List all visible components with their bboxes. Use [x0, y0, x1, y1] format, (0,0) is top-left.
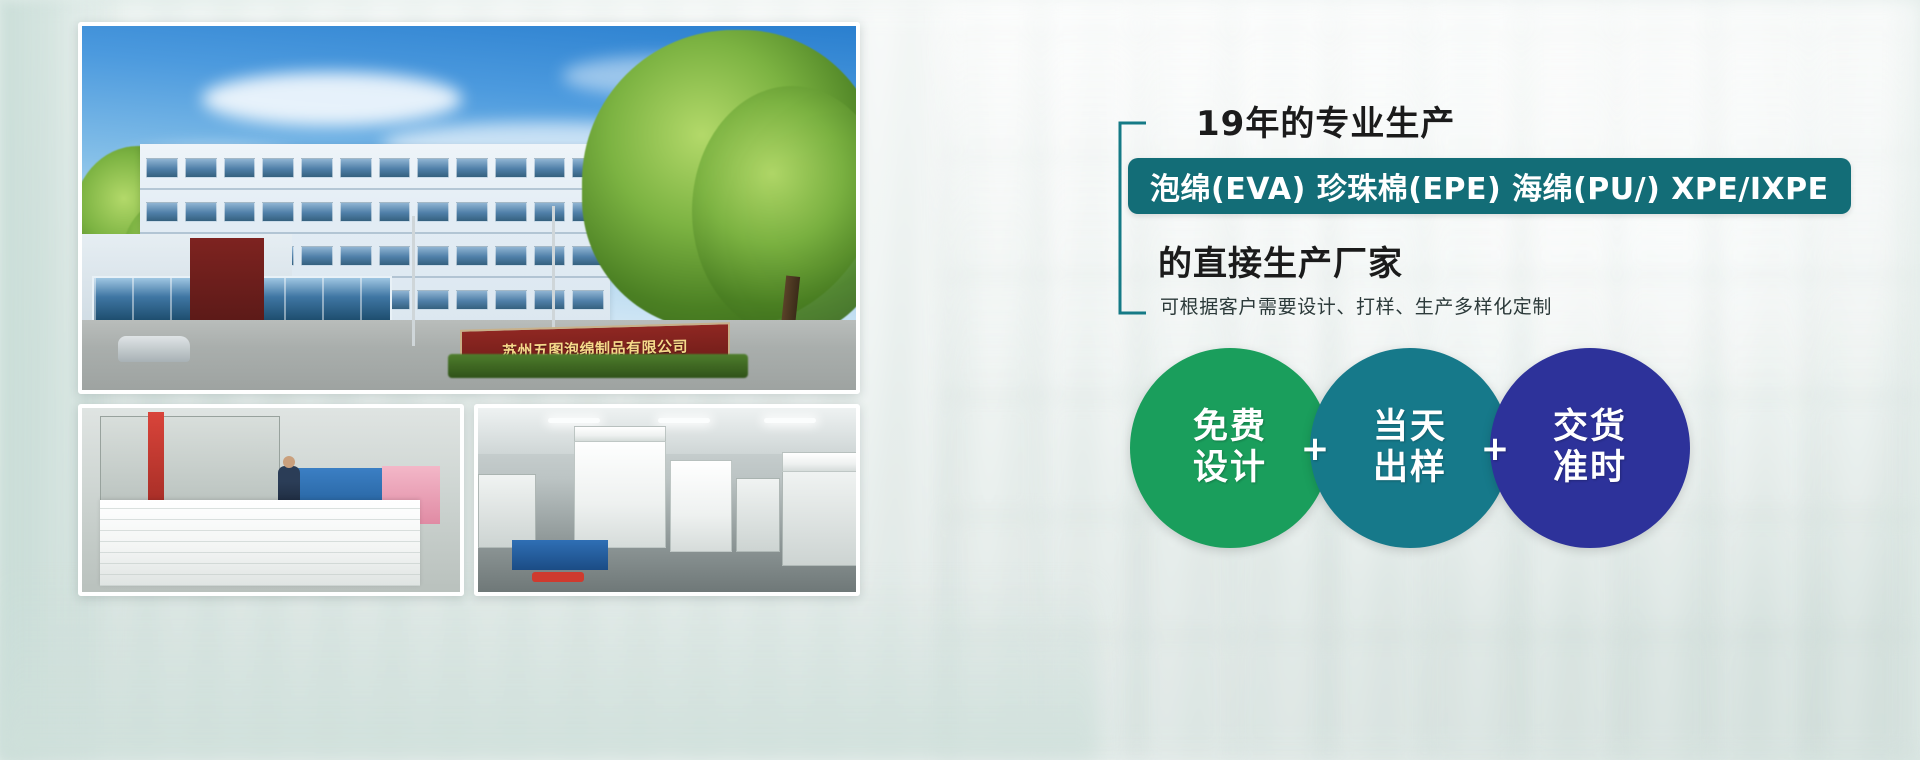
- feature-badge-line1: 当天: [1373, 407, 1447, 448]
- foam-bale: [782, 452, 860, 472]
- ceiling-light: [548, 418, 600, 423]
- promotional-banner: 苏州五图泡绵制品有限公司: [0, 0, 1920, 760]
- cloud: [202, 72, 462, 126]
- ceiling-light: [658, 418, 710, 423]
- photo-factory-building-exterior: 苏州五图泡绵制品有限公司: [78, 22, 860, 394]
- background-bottom-tint: [0, 570, 1100, 760]
- photo-foam-cutting-workshop: [78, 404, 464, 596]
- parked-car: [118, 336, 190, 362]
- entrance-door: [190, 238, 264, 322]
- feature-badge-line2: 设计: [1193, 448, 1267, 489]
- feature-badge-line1: 免费: [1193, 407, 1267, 448]
- light-pole: [412, 216, 415, 346]
- bracket-decoration: [1110, 120, 1146, 316]
- feature-badge-line1: 交货: [1553, 407, 1627, 448]
- subtitle-text: 可根据客户需要设计、打样、生产多样化定制: [1160, 292, 1552, 319]
- foam-bale: [736, 478, 780, 552]
- banner-copy-block: 19年的专业生产 泡绵(EVA) 珍珠棉(EPE) 海绵(PU/) XPE/IX…: [1110, 96, 1870, 696]
- product-list-text: 泡绵(EVA) 珍珠棉(EPE) 海绵(PU/) XPE/IXPE: [1150, 164, 1829, 208]
- white-foam-stack: [100, 500, 420, 586]
- foam-bale: [478, 474, 536, 548]
- feature-badge-line2: 准时: [1553, 448, 1627, 489]
- plus-icon: +: [1298, 432, 1332, 466]
- foam-bale: [574, 426, 666, 442]
- product-list-pill: 泡绵(EVA) 珍珠棉(EPE) 海绵(PU/) XPE/IXPE: [1128, 158, 1851, 214]
- foam-bale: [574, 438, 666, 548]
- hedge: [448, 354, 748, 378]
- work-table: [512, 540, 608, 570]
- feature-badges: 免费 设计 + 当天 出样 + 交货 准时: [1130, 348, 1750, 548]
- ceiling-light: [764, 418, 816, 423]
- photo-foam-warehouse-aisle: [474, 404, 860, 596]
- headline-top: 19年的专业生产: [1196, 96, 1455, 145]
- foam-bale: [782, 470, 860, 566]
- photo-collage: 苏州五图泡绵制品有限公司: [78, 22, 860, 596]
- foam-bale: [670, 460, 732, 552]
- warehouse-ceiling: [478, 408, 856, 454]
- plus-icon: +: [1478, 432, 1512, 466]
- red-cart: [532, 572, 584, 582]
- light-pole: [552, 206, 555, 346]
- feature-badge-on-time-delivery: 交货 准时: [1490, 348, 1690, 548]
- feature-badge-line2: 出样: [1373, 448, 1447, 489]
- headline-bottom: 的直接生产厂家: [1158, 236, 1403, 285]
